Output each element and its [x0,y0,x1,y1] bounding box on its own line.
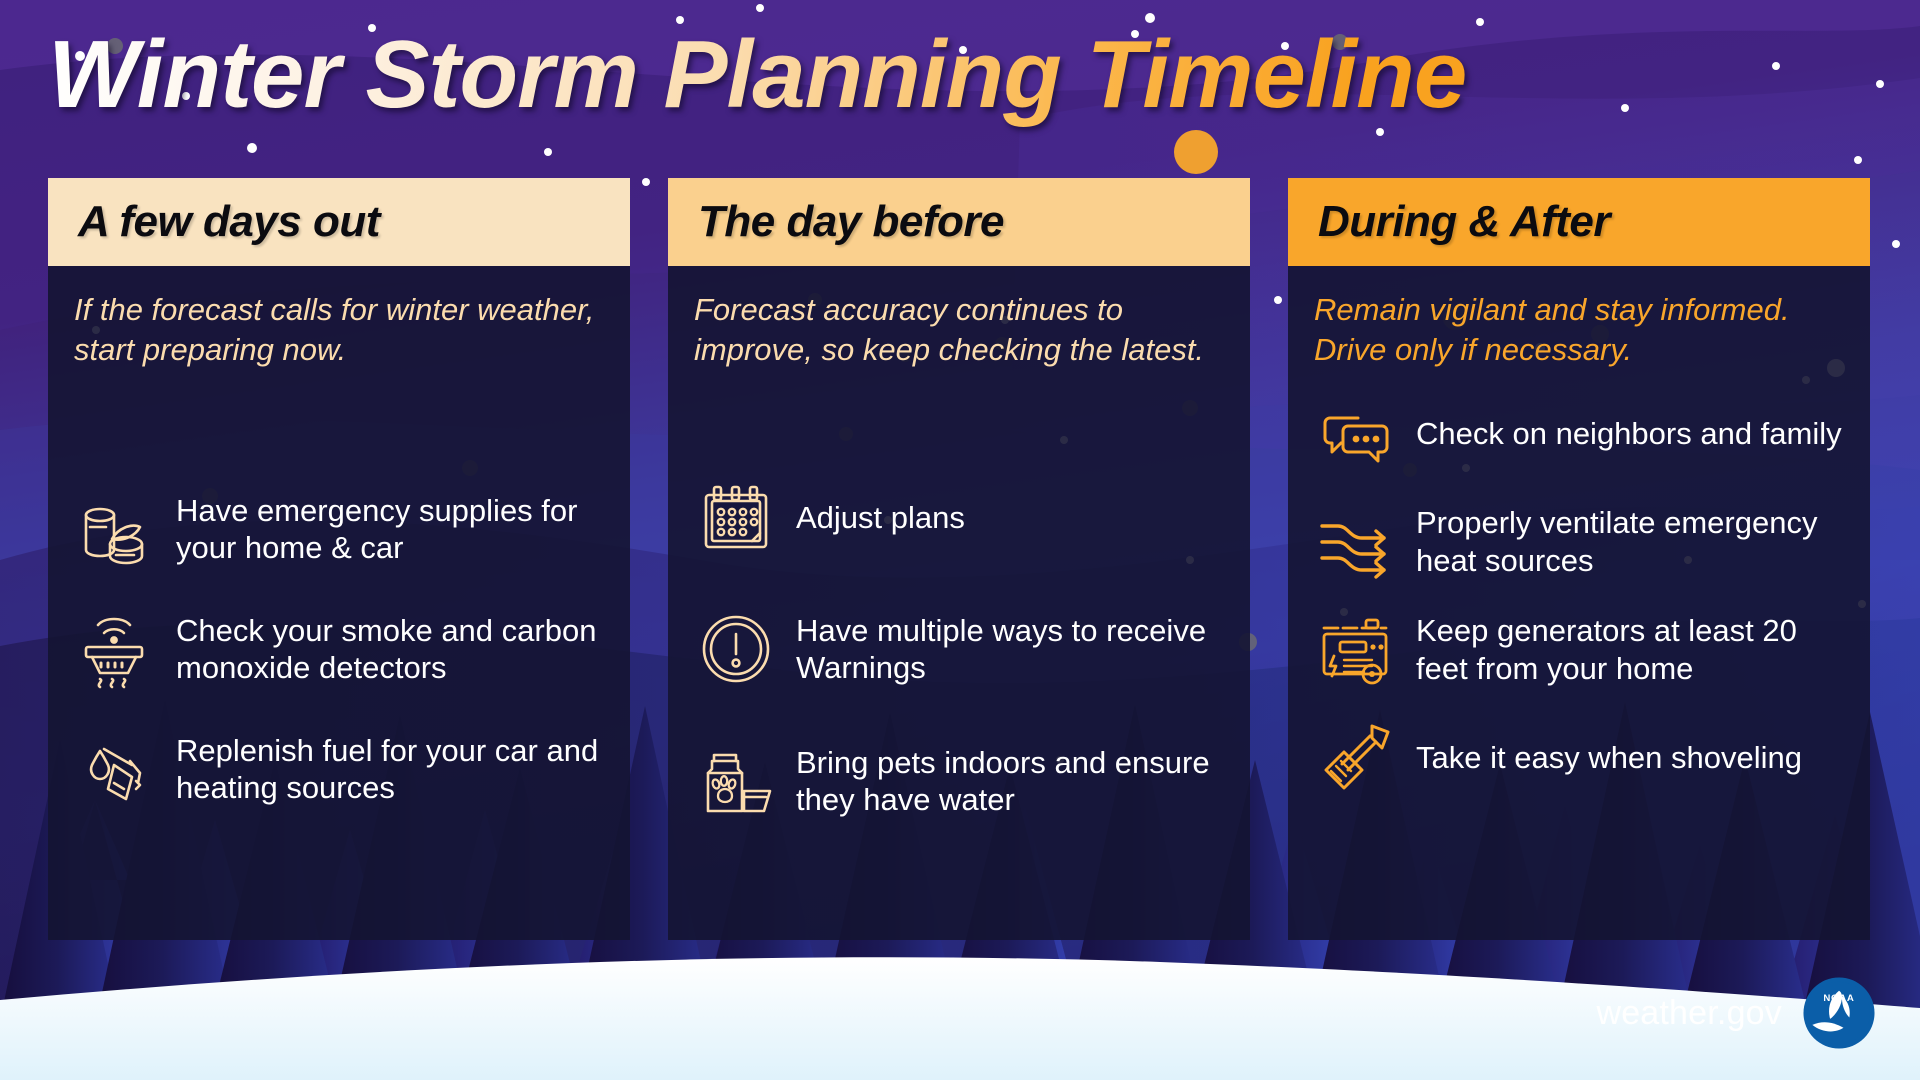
card-intro-3: Remain vigilant and stay informed. Drive… [1314,290,1844,371]
card-header-2-label: The day before [698,197,1004,247]
page-title-container: Winter Storm Planning Timeline [48,10,1848,140]
fuel-nozzle-icon [74,727,158,811]
card-header-2: The day before [668,178,1250,266]
list-item-text: Keep generators at least 20 feet from yo… [1416,612,1844,686]
timeline-card-a-few-days-out: A few days out If the forecast calls for… [48,178,630,940]
list-item-text: Take it easy when shoveling [1416,739,1802,776]
emergency-supplies-icon [74,487,158,571]
card-body-3: Remain vigilant and stay informed. Drive… [1288,266,1870,940]
svg-text:NOAA: NOAA [1823,993,1854,1004]
list-item-text: Have emergency supplies for your home & … [176,492,604,566]
list-item: Bring pets indoors and ensure they have … [694,739,1224,823]
list-item-text: Have multiple ways to receive Warnings [796,612,1224,686]
list-item-text: Check your smoke and carbon monoxide det… [176,612,604,686]
list-item-text: Replenish fuel for your car and heating … [176,732,604,806]
card-body-2: Forecast accuracy continues to improve, … [668,266,1250,940]
card-items-1: Have emergency supplies for your home & … [74,377,604,922]
list-item: Properly ventilate emergency heat source… [1314,500,1844,584]
timeline-cards: A few days out If the forecast calls for… [0,178,1920,948]
list-item: Have multiple ways to receive Warnings [694,607,1224,691]
list-item: Keep generators at least 20 feet from yo… [1314,608,1844,692]
alert-exclamation-icon [694,607,778,691]
smoke-detector-icon [74,607,158,691]
list-item: Adjust plans [694,475,1224,559]
list-item-text: Bring pets indoors and ensure they have … [796,744,1224,818]
card-header-3: During & After [1288,178,1870,266]
footer: weather.gov NOAA [1596,976,1876,1050]
card-header-1: A few days out [48,178,630,266]
speech-bubbles-icon [1314,392,1398,476]
airflow-arrows-icon [1314,500,1398,584]
noaa-logo: NOAA [1802,976,1876,1050]
calendar-icon [694,475,778,559]
card-intro-2: Forecast accuracy continues to improve, … [694,290,1224,371]
pet-food-icon [694,739,778,823]
card-intro-1: If the forecast calls for winter weather… [74,290,604,371]
card-body-1: If the forecast calls for winter weather… [48,266,630,940]
snow-shovel-icon [1314,716,1398,800]
list-item: Check on neighbors and family [1314,392,1844,476]
list-item: Take it easy when shoveling [1314,716,1844,800]
card-items-2: Adjust plans Have multiple ways to recei… [694,377,1224,922]
list-item: Check your smoke and carbon monoxide det… [74,607,604,691]
generator-icon [1314,608,1398,692]
list-item-text: Adjust plans [796,499,965,536]
weather-gov-link[interactable]: weather.gov [1596,994,1782,1033]
timeline-card-during-and-after: During & After Remain vigilant and stay … [1288,178,1870,940]
list-item-text: Properly ventilate emergency heat source… [1416,504,1844,578]
list-item: Have emergency supplies for your home & … [74,487,604,571]
list-item: Replenish fuel for your car and heating … [74,727,604,811]
card-header-1-label: A few days out [78,197,380,247]
timeline-card-the-day-before: The day before Forecast accuracy continu… [668,178,1250,940]
card-header-3-label: During & After [1318,197,1610,247]
page-title: Winter Storm Planning Timeline [48,20,1466,130]
card-items-3: Check on neighbors and family Pro [1314,377,1844,922]
list-item-text: Check on neighbors and family [1416,415,1842,452]
